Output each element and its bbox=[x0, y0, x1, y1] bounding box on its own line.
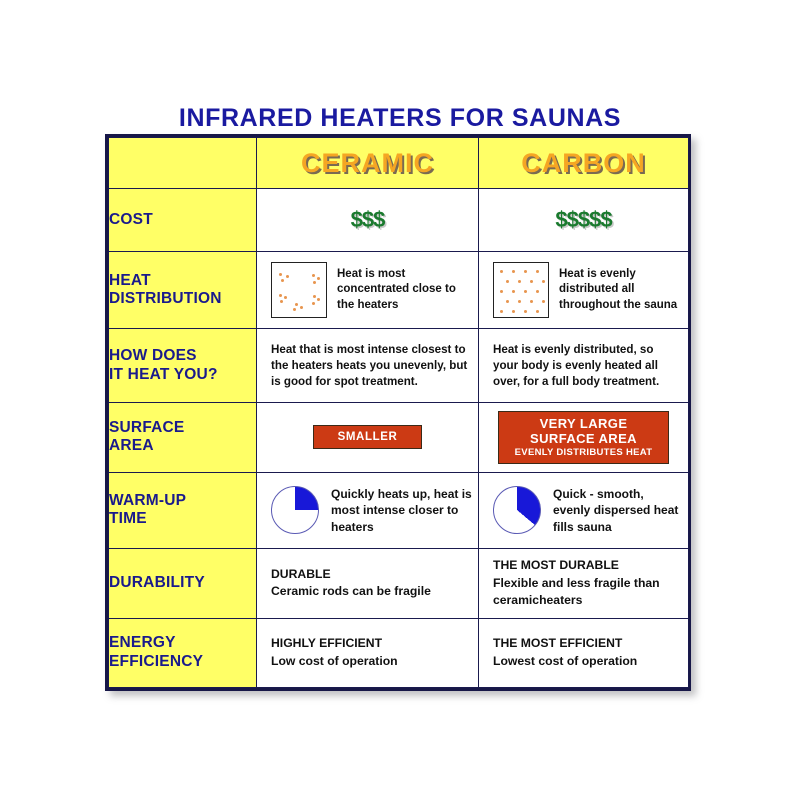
heat-dot bbox=[317, 277, 320, 280]
table-row: WARM-UPTIME Quickly heats up, heat is mo… bbox=[109, 472, 689, 549]
row-label-surface-area: SURFACEAREA bbox=[109, 403, 257, 472]
durability-stack-ceramic: DURABLE Ceramic rods can be fragile bbox=[257, 566, 478, 601]
heat-dot bbox=[518, 300, 521, 303]
durability-detail-ceramic: Ceramic rods can be fragile bbox=[271, 583, 470, 600]
heat-dot bbox=[279, 273, 282, 276]
heat-dot bbox=[530, 280, 533, 283]
cell-efficiency-carbon: THE MOST EFFICIENT Lowest cost of operat… bbox=[479, 618, 689, 687]
cell-warm-up-carbon: Quick - smooth, evenly dispersed heat fi… bbox=[479, 472, 689, 549]
cell-heat-distribution-ceramic: Heat is most concentrated close to the h… bbox=[257, 252, 479, 329]
cell-durability-carbon: THE MOST DURABLE Flexible and less fragi… bbox=[479, 549, 689, 618]
column-header-ceramic-label: CERAMIC bbox=[301, 148, 434, 178]
heat-dot bbox=[500, 270, 503, 273]
heat-dot bbox=[313, 295, 316, 298]
heat-dot bbox=[295, 303, 298, 306]
cell-surface-area-ceramic: SMALLER bbox=[257, 403, 479, 472]
durability-headline-carbon: THE MOST DURABLE bbox=[493, 557, 680, 574]
heat-distribution-text-ceramic: Heat is most concentrated close to the h… bbox=[337, 267, 472, 313]
efficiency-stack-carbon: THE MOST EFFICIENT Lowest cost of operat… bbox=[479, 635, 688, 670]
warm-up-text-carbon: Quick - smooth, evenly dispersed heat fi… bbox=[553, 486, 682, 535]
table-row: HOW DOESIT HEAT YOU? Heat that is most i… bbox=[109, 328, 689, 402]
efficiency-stack-ceramic: HIGHLY EFFICIENT Low cost of operation bbox=[257, 635, 478, 670]
heat-dot bbox=[524, 310, 527, 313]
durability-stack-carbon: THE MOST DURABLE Flexible and less fragi… bbox=[479, 557, 688, 609]
heat-dot bbox=[512, 270, 515, 273]
heat-dot bbox=[500, 310, 503, 313]
heat-dot bbox=[530, 300, 533, 303]
surface-area-badge-ceramic: SMALLER bbox=[313, 425, 423, 449]
heat-dot bbox=[286, 275, 289, 278]
cell-cost-ceramic: $$$ bbox=[257, 189, 479, 252]
row-label-warm-up-time: WARM-UPTIME bbox=[109, 472, 257, 549]
pie-chart-icon-carbon bbox=[493, 486, 541, 534]
cell-how-heat-ceramic: Heat that is most intense closest to the… bbox=[257, 328, 479, 402]
heat-dot bbox=[317, 298, 320, 301]
row-label-cost: COST bbox=[109, 189, 257, 252]
table-row: SURFACEAREA SMALLER VERY LARGESURFACE AR… bbox=[109, 403, 689, 472]
column-header-carbon: CARBON bbox=[479, 138, 689, 189]
row-label-durability: DURABILITY bbox=[109, 549, 257, 618]
heat-dot bbox=[542, 280, 545, 283]
row-label-how-does-it-heat-you: HOW DOESIT HEAT YOU? bbox=[109, 328, 257, 402]
row-label-heat-distribution: HEATDISTRIBUTION bbox=[109, 252, 257, 329]
pie-chart-icon-ceramic bbox=[271, 486, 319, 534]
heat-dot bbox=[518, 280, 521, 283]
cell-heat-distribution-carbon: Heat is evenly distributed all throughou… bbox=[479, 252, 689, 329]
table-row: COST $$$ $$$$$ bbox=[109, 189, 689, 252]
heat-dot bbox=[284, 296, 287, 299]
comparison-table: CERAMIC CARBON COST $$$ $$$$$ bbox=[108, 137, 689, 688]
cell-durability-ceramic: DURABLE Ceramic rods can be fragile bbox=[257, 549, 479, 618]
cell-cost-carbon: $$$$$ bbox=[479, 189, 689, 252]
heat-dot bbox=[506, 300, 509, 303]
efficiency-headline-ceramic: HIGHLY EFFICIENT bbox=[271, 635, 470, 652]
surface-area-badge-carbon: VERY LARGESURFACE AREA EVENLY DISTRIBUTE… bbox=[498, 411, 670, 464]
efficiency-headline-carbon: THE MOST EFFICIENT bbox=[493, 635, 680, 652]
heat-dot bbox=[280, 300, 283, 303]
table-row: DURABILITY DURABLE Ceramic rods can be f… bbox=[109, 549, 689, 618]
how-heat-text-carbon: Heat is evenly distributed, so your body… bbox=[479, 342, 688, 390]
heat-dot bbox=[293, 308, 296, 311]
heat-distribution-text-carbon: Heat is evenly distributed all throughou… bbox=[559, 267, 682, 313]
column-header-ceramic: CERAMIC bbox=[257, 138, 479, 189]
heat-dot bbox=[312, 274, 315, 277]
heat-dot bbox=[512, 290, 515, 293]
heat-dot bbox=[542, 300, 545, 303]
heat-dot bbox=[312, 302, 315, 305]
cost-dollars-ceramic: $$$ bbox=[351, 207, 385, 232]
table-row: HEATDISTRIBUTION Heat is most concentrat… bbox=[109, 252, 689, 329]
infographic-page: INFRARED HEATERS FOR SAUNAS CERAMIC CARB… bbox=[0, 0, 800, 800]
warm-up-text-ceramic: Quickly heats up, heat is most intense c… bbox=[331, 486, 472, 535]
heat-dot bbox=[536, 270, 539, 273]
cost-dollars-carbon: $$$$$ bbox=[555, 207, 611, 232]
heat-dot bbox=[524, 270, 527, 273]
efficiency-detail-carbon: Lowest cost of operation bbox=[493, 653, 680, 670]
cell-warm-up-ceramic: Quickly heats up, heat is most intense c… bbox=[257, 472, 479, 549]
row-label-energy-efficiency: ENERGYEFFICIENCY bbox=[109, 618, 257, 687]
heat-dot bbox=[536, 290, 539, 293]
cell-how-heat-carbon: Heat is evenly distributed, so your body… bbox=[479, 328, 689, 402]
heat-dot bbox=[536, 310, 539, 313]
heat-dot bbox=[313, 281, 316, 284]
surface-area-badge-carbon-subtext: EVENLY DISTRIBUTES HEAT bbox=[515, 447, 653, 458]
comparison-table-container: CERAMIC CARBON COST $$$ $$$$$ bbox=[105, 134, 691, 691]
cell-surface-area-carbon: VERY LARGESURFACE AREA EVENLY DISTRIBUTE… bbox=[479, 403, 689, 472]
column-header-carbon-label: CARBON bbox=[521, 148, 646, 178]
surface-area-badge-carbon-line1: VERY LARGESURFACE AREA bbox=[530, 416, 637, 446]
durability-headline-ceramic: DURABLE bbox=[271, 566, 470, 583]
dot-pattern-icon-clustered bbox=[271, 262, 327, 318]
table-header-row: CERAMIC CARBON bbox=[109, 138, 689, 189]
heat-dot bbox=[512, 310, 515, 313]
heat-dot bbox=[524, 290, 527, 293]
heat-dot bbox=[279, 294, 282, 297]
header-corner-cell bbox=[109, 138, 257, 189]
heat-dot bbox=[506, 280, 509, 283]
cell-efficiency-ceramic: HIGHLY EFFICIENT Low cost of operation bbox=[257, 618, 479, 687]
heat-dot bbox=[300, 306, 303, 309]
dot-pattern-icon-even-grid bbox=[493, 262, 549, 318]
heat-dot bbox=[281, 279, 284, 282]
heat-dot bbox=[500, 290, 503, 293]
page-title: INFRARED HEATERS FOR SAUNAS bbox=[0, 104, 800, 133]
efficiency-detail-ceramic: Low cost of operation bbox=[271, 653, 470, 670]
how-heat-text-ceramic: Heat that is most intense closest to the… bbox=[257, 342, 478, 390]
table-row: ENERGYEFFICIENCY HIGHLY EFFICIENT Low co… bbox=[109, 618, 689, 687]
durability-detail-carbon: Flexible and less fragile than ceramiche… bbox=[493, 575, 680, 610]
